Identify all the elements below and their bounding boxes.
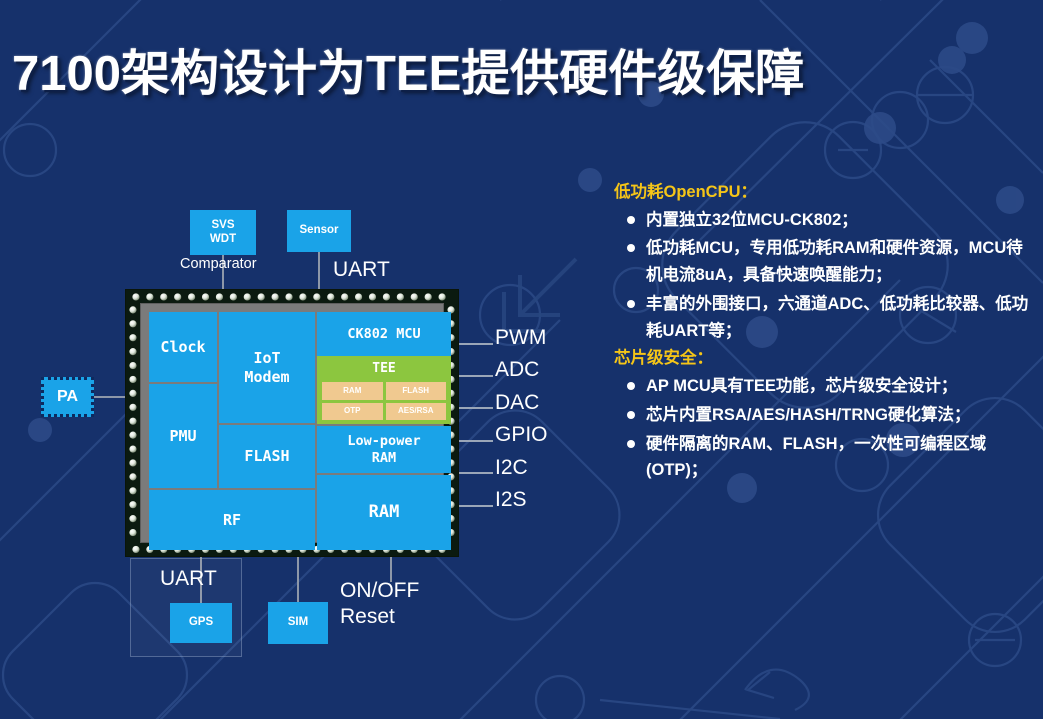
chip-die-frame: Clock PMU IoT Modem FLASH RF CK802 MCU T…: [140, 303, 444, 543]
pin-label-dac: DAC: [495, 391, 539, 415]
feature-panel: 低功耗OpenCPU： 内置独立32位MCU-CK802； 低功耗MCU，专用低…: [614, 180, 1032, 486]
onoff-line2: Reset: [340, 604, 419, 630]
die-block-ram[interactable]: RAM: [317, 475, 451, 550]
tee-cell-aes-rsa[interactable]: AES/RSA: [386, 403, 447, 421]
list-item-text: AP MCU具有TEE功能，芯片级安全设计；: [646, 377, 957, 395]
list-item-text: 丰富的外围接口，六通道ADC、低功耗比较器、低功耗UART等；: [646, 295, 1028, 340]
wire-sensor: [318, 252, 320, 291]
section-chip-level-security: 芯片级安全： AP MCU具有TEE功能，芯片级安全设计； 芯片内置RSA/AE…: [614, 346, 1032, 484]
svs-label: SVS: [210, 219, 236, 233]
die-block-tee[interactable]: TEE RAM FLASH OTP AES/RSA: [317, 356, 451, 424]
bullet-list: 内置独立32位MCU-CK802； 低功耗MCU，专用低功耗RAM和硬件资源，M…: [614, 207, 1032, 345]
iot-line1: IoT: [244, 349, 289, 368]
wdt-label: WDT: [210, 233, 236, 247]
die-block-clock[interactable]: Clock: [149, 312, 217, 382]
list-item: AP MCU具有TEE功能，芯片级安全设计；: [614, 373, 1032, 400]
block-gps[interactable]: GPS: [170, 603, 232, 643]
label-comparator: Comparator: [180, 256, 257, 272]
list-item: 芯片内置RSA/AES/HASH/TRNG硬化算法；: [614, 402, 1032, 429]
pin-line-i2s: [455, 505, 493, 507]
pin-line-gpio: [455, 440, 493, 442]
pin-line-adc: [455, 375, 493, 377]
list-item-text: 硬件隔离的RAM、FLASH，一次性可编程区域(OTP)；: [646, 435, 986, 480]
die-block-ck802-mcu[interactable]: CK802 MCU: [317, 312, 451, 356]
chip-package: Clock PMU IoT Modem FLASH RF CK802 MCU T…: [125, 289, 459, 557]
bullet-dot-icon: [627, 411, 635, 419]
section-low-power-opencpu: 低功耗OpenCPU： 内置独立32位MCU-CK802； 低功耗MCU，专用低…: [614, 180, 1032, 344]
pin-label-gpio: GPIO: [495, 423, 548, 447]
list-item: 内置独立32位MCU-CK802；: [614, 207, 1032, 234]
iot-line2: Modem: [244, 368, 289, 387]
block-sensor[interactable]: Sensor: [287, 210, 351, 252]
list-item: 低功耗MCU，专用低功耗RAM和硬件资源，MCU待机电流8uA，具备快速唤醒能力…: [614, 235, 1032, 288]
die-block-rf[interactable]: RF: [149, 490, 315, 550]
bullet-list: AP MCU具有TEE功能，芯片级安全设计； 芯片内置RSA/AES/HASH/…: [614, 373, 1032, 484]
block-svs-wdt[interactable]: SVS WDT: [190, 210, 256, 255]
architecture-diagram: SVS WDT Sensor GPS SIM PA Comparator UAR…: [0, 0, 614, 719]
bullet-dot-icon: [627, 440, 635, 448]
pin-label-pwm: PWM: [495, 326, 546, 350]
label-uart-bottom: UART: [160, 567, 217, 591]
tee-cell-ram[interactable]: RAM: [322, 382, 383, 400]
tee-title: TEE: [317, 356, 451, 377]
list-item-text: 低功耗MCU，专用低功耗RAM和硬件资源，MCU待机电流8uA，具备快速唤醒能力…: [646, 239, 1023, 284]
die-block-flash[interactable]: FLASH: [219, 425, 315, 488]
bullet-dot-icon: [627, 244, 635, 252]
die-block-iot-modem[interactable]: IoT Modem: [219, 312, 315, 423]
pin-label-adc: ADC: [495, 358, 539, 382]
lpram-line2: RAM: [347, 450, 420, 467]
die-block-pmu[interactable]: PMU: [149, 384, 217, 488]
list-item: 硬件隔离的RAM、FLASH，一次性可编程区域(OTP)；: [614, 431, 1032, 484]
section-heading: 芯片级安全：: [614, 346, 1032, 371]
bullet-dot-icon: [627, 382, 635, 390]
block-pa[interactable]: PA: [41, 377, 94, 417]
wire-sim: [297, 556, 299, 603]
list-item-text: 内置独立32位MCU-CK802；: [646, 211, 858, 229]
slide-root: 7100架构设计为TEE提供硬件级保障 SVS WDT Sensor GPS S…: [0, 0, 1043, 719]
pin-line-pwm: [455, 343, 493, 345]
bullet-dot-icon: [627, 300, 635, 308]
pin-label-i2c: I2C: [495, 456, 528, 480]
pin-label-i2s: I2S: [495, 488, 527, 512]
die-block-low-power-ram[interactable]: Low-power RAM: [317, 426, 451, 473]
onoff-line1: ON/OFF: [340, 578, 419, 604]
block-sim[interactable]: SIM: [268, 602, 328, 644]
label-uart-top: UART: [333, 258, 390, 282]
pin-line-i2c: [455, 472, 493, 474]
section-heading: 低功耗OpenCPU：: [614, 180, 1032, 205]
list-item-text: 芯片内置RSA/AES/HASH/TRNG硬化算法；: [646, 406, 971, 424]
wire-pa: [94, 396, 128, 398]
tee-cell-flash[interactable]: FLASH: [386, 382, 447, 400]
bullet-dot-icon: [627, 216, 635, 224]
label-on-off-reset: ON/OFF Reset: [340, 578, 419, 631]
lpram-line1: Low-power: [347, 433, 420, 450]
list-item: 丰富的外围接口，六通道ADC、低功耗比较器、低功耗UART等；: [614, 291, 1032, 344]
tee-cell-otp[interactable]: OTP: [322, 403, 383, 421]
pin-line-dac: [455, 407, 493, 409]
tee-subblocks: RAM FLASH OTP AES/RSA: [322, 382, 446, 420]
chip-die: Clock PMU IoT Modem FLASH RF CK802 MCU T…: [149, 312, 435, 534]
